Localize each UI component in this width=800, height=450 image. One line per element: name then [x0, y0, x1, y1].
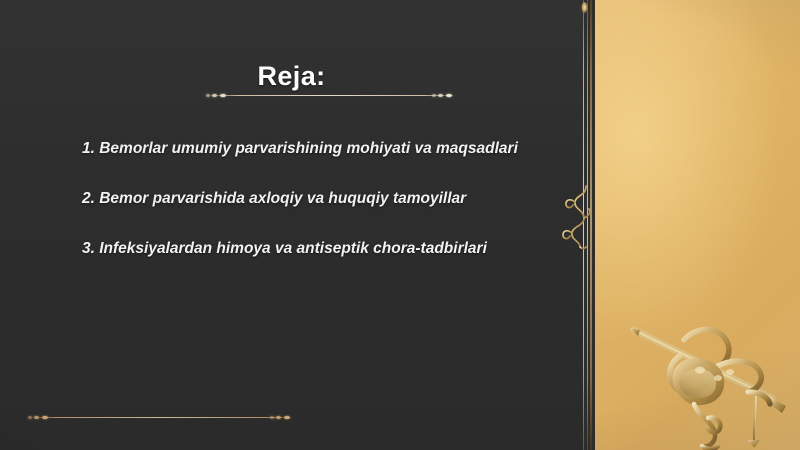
hand-holding-pen-icon	[622, 300, 800, 450]
gold-finial-icon	[581, 2, 588, 15]
agenda-list: 1. Bemorlar umumiy parvarishining mohiya…	[82, 138, 552, 288]
title-divider	[208, 90, 454, 102]
spiral-flourish-icon	[560, 182, 594, 250]
footer-divider	[30, 412, 292, 424]
list-item: 1. Bemorlar umumiy parvarishining mohiya…	[82, 138, 552, 160]
footer-divider-line	[30, 417, 292, 418]
divider-ornament-right	[431, 91, 457, 100]
page-title: Reja:	[0, 61, 583, 92]
list-item: 2. Bemor parvarishida axloqiy va huquqiy…	[82, 188, 552, 210]
divider-line	[208, 95, 454, 96]
footer-ornament-right	[269, 413, 295, 422]
list-item: 3. Infeksiyalardan himoya va antiseptik …	[82, 238, 552, 260]
presentation-slide: Reja: 1. Bemorlar umumiy parvarishining …	[0, 0, 800, 450]
